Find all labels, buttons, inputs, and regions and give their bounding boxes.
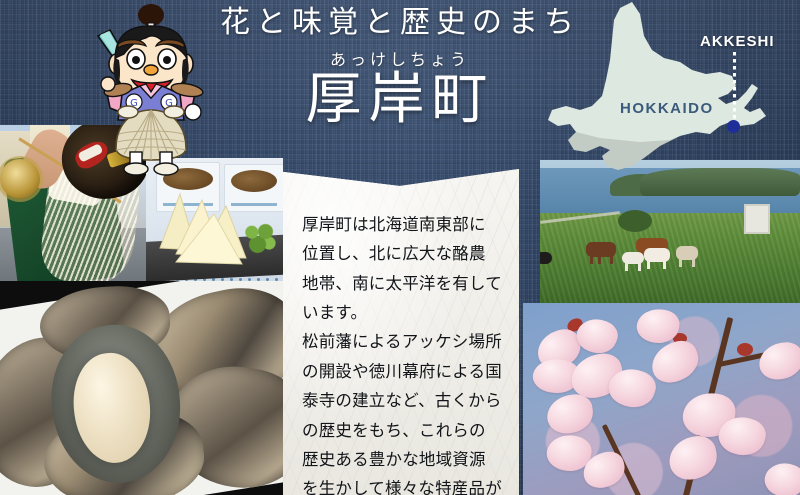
cow (586, 242, 616, 257)
poster-root: HOKKAIDO AKKESHI (0, 0, 800, 495)
cow (676, 246, 698, 260)
mascot-hand-left (101, 77, 115, 91)
map-location-marker (727, 120, 740, 133)
cattle-pasture-coast-photo (540, 160, 800, 305)
signboard (744, 204, 770, 234)
header-block: 花と味覚と歴史のまち あっけしちょう 厚岸町 (200, 6, 600, 130)
mascot-hand-right (185, 104, 201, 120)
mascot-sandal-left (124, 163, 148, 175)
shrub (618, 210, 652, 232)
mascot-svg: G G (88, 2, 214, 178)
mascot-nose (144, 65, 158, 75)
flower-bud (737, 343, 753, 356)
map-leader-line (733, 52, 736, 122)
mascot-pupil-left (132, 56, 140, 64)
map-label-hokkaido: HOKKAIDO (620, 100, 714, 117)
mascot-scallop-shell (116, 106, 186, 160)
akkeshi-mascot-character: G G (88, 2, 214, 178)
cow (540, 252, 552, 264)
oyster-photo (0, 281, 283, 495)
description-panel: 厚岸町は北海道南東部に位置し、北に広大な酪農地帯、南に太平洋を有しています。 松… (283, 168, 519, 495)
map-label-akkeshi: AKKESHI (700, 33, 775, 50)
parsley-garnish (241, 222, 277, 256)
description-text: 厚岸町は北海道南東部に位置し、北に広大な酪農地帯、南に太平洋を有しています。 松… (302, 210, 502, 495)
cow (644, 248, 670, 262)
mascot-pupil-right (163, 56, 171, 64)
mascot-sandal-right (154, 163, 178, 175)
town-name: 厚岸町 (200, 71, 600, 130)
ritual-bell (0, 159, 40, 199)
mascot-sideburn-right (182, 58, 189, 86)
calf (622, 252, 644, 264)
tagline: 花と味覚と歴史のまち (200, 6, 600, 39)
cherry-blossom-photo (523, 303, 800, 495)
